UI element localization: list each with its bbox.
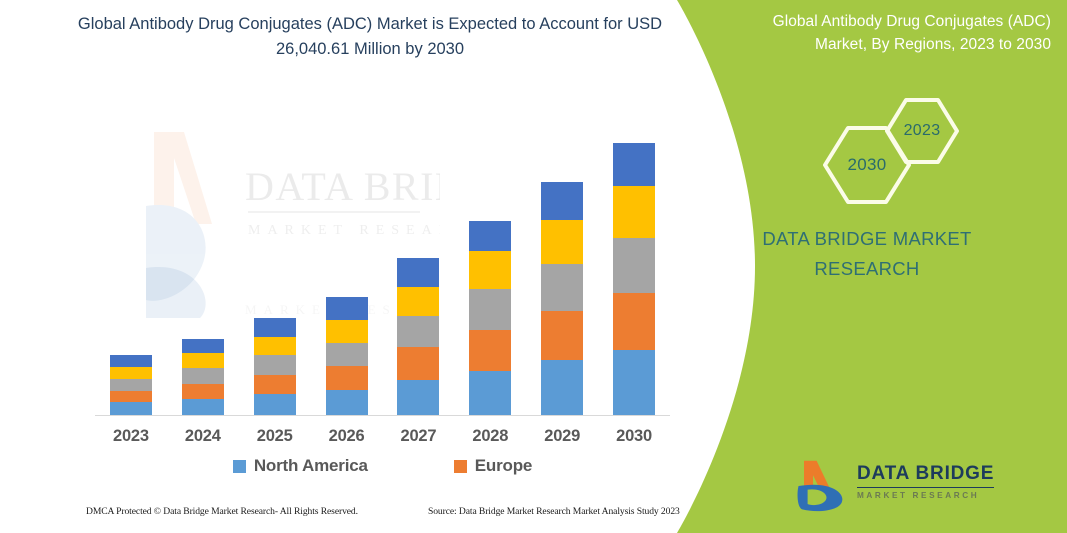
panel-brand-name: DATA BRIDGE MARKET RESEARCH (717, 224, 1017, 284)
bar-segment-europe (469, 330, 511, 371)
bar-segment-series-3 (254, 355, 296, 375)
bar-segment-north-america (541, 360, 583, 415)
bar-slot (454, 121, 526, 415)
chart-plot-area (95, 120, 670, 416)
legend-item-north-america[interactable]: North America (233, 456, 368, 476)
bar-segment-series-4 (182, 353, 224, 368)
right-green-panel: Global Antibody Drug Conjugates (ADC) Ma… (677, 0, 1067, 533)
bar-segment-series-3 (541, 264, 583, 311)
x-axis-tick-2024: 2024 (167, 427, 239, 446)
hexagon-badges: 2030 2023 (805, 96, 1005, 206)
x-axis-tick-2023: 2023 (95, 427, 167, 446)
bar-slot (383, 121, 455, 415)
brand-logo-tagline: MARKET RESEARCH (857, 491, 994, 500)
bar-segment-series-5 (254, 318, 296, 337)
bar-segment-series-5 (326, 297, 368, 320)
brand-logo-name: DATA BRIDGE (857, 463, 994, 488)
bar-segment-north-america (469, 371, 511, 415)
bar-segment-north-america (182, 399, 224, 415)
bar-segment-series-3 (182, 368, 224, 384)
bar-segment-series-4 (541, 220, 583, 264)
bar-segment-north-america (326, 390, 368, 415)
bar-segment-europe (110, 391, 152, 403)
bar-segment-europe (182, 384, 224, 400)
bar-segment-north-america (110, 402, 152, 415)
bar-segment-series-5 (613, 143, 655, 186)
footer-copyright: DMCA Protected © Data Bridge Market Rese… (86, 506, 358, 517)
bar-slot (239, 121, 311, 415)
axis-baseline (95, 415, 670, 416)
stacked-bar-2029 (541, 182, 583, 415)
bar-segment-europe (254, 375, 296, 395)
hexagon-badge-2023: 2023 (883, 96, 961, 166)
infographic-page: Global Antibody Drug Conjugates (ADC) Ma… (0, 0, 1067, 533)
stacked-bar-2030 (613, 143, 655, 415)
bar-segment-europe (397, 347, 439, 379)
stacked-bar-2024 (182, 339, 224, 415)
bar-segment-series-3 (613, 238, 655, 293)
bar-segment-series-5 (541, 182, 583, 220)
footer-source: Source: Data Bridge Market Research Mark… (428, 506, 680, 517)
panel-title: Global Antibody Drug Conjugates (ADC) Ma… (761, 10, 1051, 56)
legend-label: North America (254, 456, 368, 476)
bar-segment-series-3 (110, 379, 152, 391)
bar-segment-series-4 (469, 251, 511, 288)
bar-segment-series-3 (326, 343, 368, 367)
bar-segment-series-3 (397, 316, 439, 347)
legend-swatch-icon (233, 460, 246, 473)
x-axis-tick-2030: 2030 (598, 427, 670, 446)
bar-segment-series-4 (397, 287, 439, 316)
bar-slot (598, 121, 670, 415)
stacked-bar-2025 (254, 318, 296, 415)
bar-segment-series-4 (110, 367, 152, 379)
data-bridge-logo-icon (795, 459, 849, 513)
bar-segment-europe (541, 311, 583, 360)
bar-segment-north-america (397, 380, 439, 415)
legend-label: Europe (475, 456, 532, 476)
bar-segment-series-5 (182, 339, 224, 354)
bar-segment-series-4 (613, 186, 655, 238)
bar-slot (311, 121, 383, 415)
x-axis-tick-2027: 2027 (383, 427, 455, 446)
bar-segment-north-america (613, 350, 655, 415)
footer: DMCA Protected © Data Bridge Market Rese… (0, 506, 700, 528)
bar-slot (95, 121, 167, 415)
bar-segment-series-4 (326, 320, 368, 343)
x-axis-tick-2029: 2029 (526, 427, 598, 446)
hexagon-label-2023: 2023 (904, 122, 941, 140)
bar-segment-north-america (254, 394, 296, 415)
bar-segment-europe (326, 366, 368, 390)
legend-item-europe[interactable]: Europe (454, 456, 532, 476)
stacked-bar-2028 (469, 221, 511, 415)
bar-slot (526, 121, 598, 415)
bar-segment-series-3 (469, 289, 511, 330)
legend-swatch-icon (454, 460, 467, 473)
hexagon-label-2030: 2030 (847, 155, 886, 175)
bar-segment-europe (613, 293, 655, 351)
bar-segment-series-4 (254, 337, 296, 356)
stacked-bar-2026 (326, 297, 368, 415)
stacked-bar-2023 (110, 355, 152, 415)
page-title: Global Antibody Drug Conjugates (ADC) Ma… (60, 12, 680, 62)
stacked-bar-2027 (397, 258, 439, 415)
brand-logo: DATA BRIDGE MARKET RESEARCH (795, 455, 1045, 517)
chart-legend: North AmericaEurope (95, 456, 670, 476)
x-axis-tick-2028: 2028 (454, 427, 526, 446)
bar-group (95, 121, 670, 415)
bar-segment-series-5 (469, 221, 511, 251)
bar-slot (167, 121, 239, 415)
brand-logo-text: DATA BRIDGE MARKET RESEARCH (857, 463, 994, 500)
bar-segment-series-5 (397, 258, 439, 286)
x-axis-tick-2026: 2026 (311, 427, 383, 446)
x-axis-tick-2025: 2025 (239, 427, 311, 446)
bar-segment-series-5 (110, 355, 152, 367)
x-axis: 20232024202520262027202820292030 (95, 427, 670, 446)
